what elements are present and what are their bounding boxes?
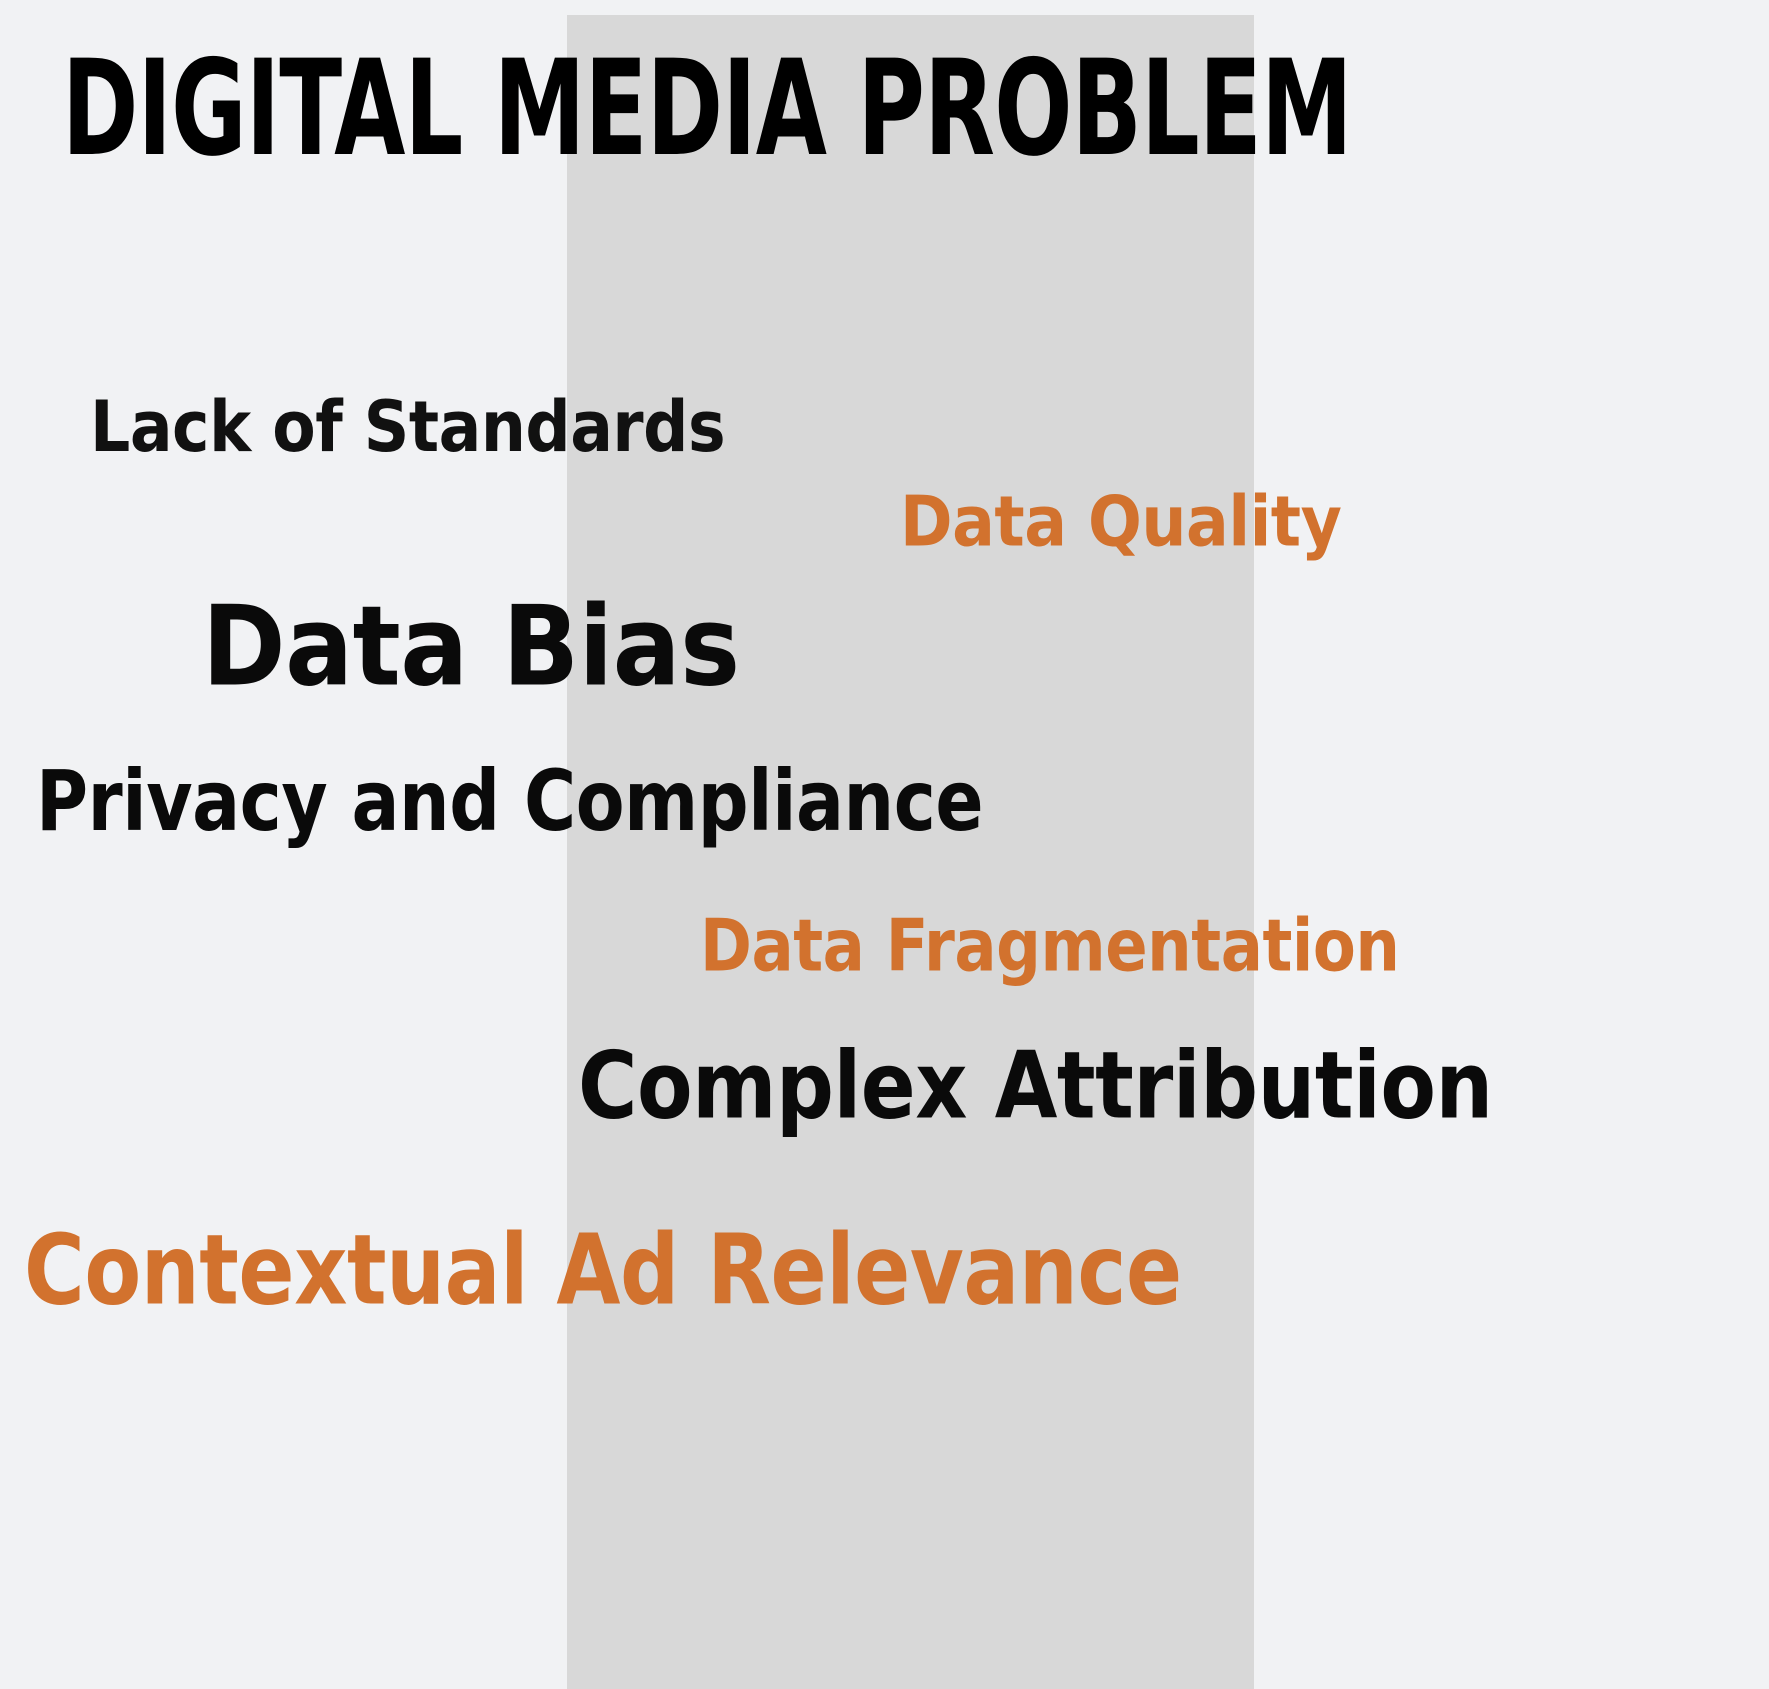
word-cloud-item-complex-attribution: Complex Attribution (578, 1040, 1493, 1132)
word-cloud: Lack of Standards Data Quality Data Bias… (0, 0, 1769, 1689)
word-cloud-item-privacy-and-compliance: Privacy and Compliance (36, 760, 983, 844)
word-cloud-item-lack-of-standards: Lack of Standards (90, 393, 725, 464)
word-cloud-item-contextual-ad-relevance: Contextual Ad Relevance (24, 1222, 1182, 1320)
page-title: DIGITAL MEDIA PROBLEM (62, 42, 1352, 174)
slide-canvas: DIGITAL MEDIA PROBLEM Lack of Standards … (0, 0, 1769, 1689)
word-cloud-item-data-bias: Data Bias (202, 592, 740, 702)
word-cloud-item-data-fragmentation: Data Fragmentation (700, 911, 1400, 983)
word-cloud-item-data-quality: Data Quality (900, 487, 1341, 557)
